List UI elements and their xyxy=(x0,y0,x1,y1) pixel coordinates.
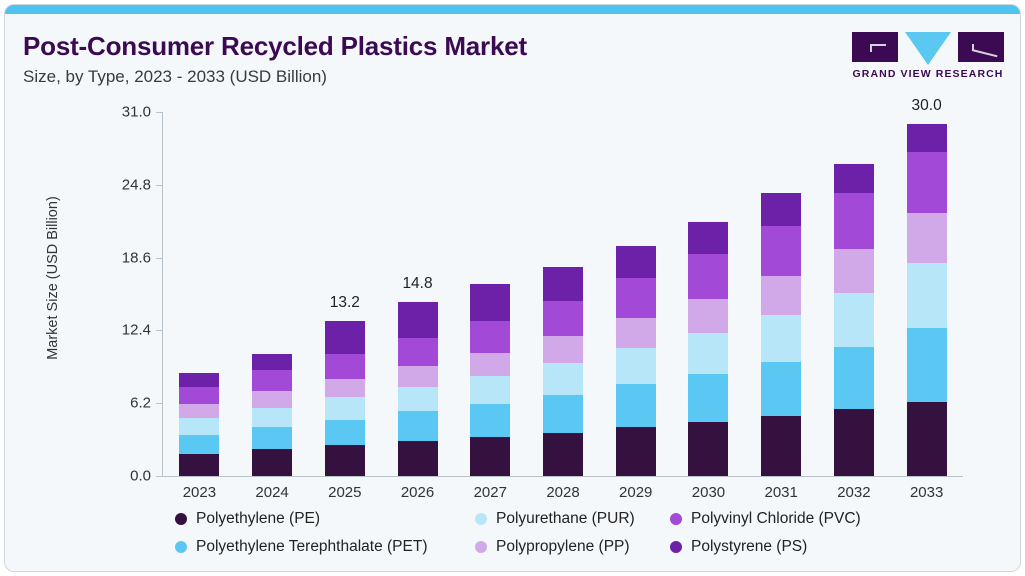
bar-segment[interactable] xyxy=(252,449,292,476)
bar-segment[interactable] xyxy=(325,445,365,476)
bar-segment[interactable] xyxy=(470,321,510,353)
bar-segment[interactable] xyxy=(543,433,583,476)
bar-segment[interactable] xyxy=(398,441,438,476)
bar-segment[interactable] xyxy=(398,411,438,440)
logo-block-right-icon xyxy=(958,32,1004,62)
bar-segment[interactable] xyxy=(179,373,219,387)
bar-segment[interactable] xyxy=(543,301,583,336)
bar-segment[interactable] xyxy=(616,246,656,278)
bar-segment[interactable] xyxy=(907,328,947,402)
chart-card: Post-Consumer Recycled Plastics Market S… xyxy=(4,4,1021,572)
bar-segment[interactable] xyxy=(543,336,583,363)
y-tick-mark xyxy=(156,330,163,331)
bar-2025[interactable] xyxy=(325,321,365,476)
y-tick-label: 6.2 xyxy=(130,395,151,412)
bar-segment[interactable] xyxy=(688,254,728,299)
bar-segment[interactable] xyxy=(470,404,510,437)
bar-segment[interactable] xyxy=(688,333,728,374)
bar-segment[interactable] xyxy=(325,354,365,379)
logo-right-tick-icon xyxy=(972,44,974,51)
bar-segment[interactable] xyxy=(398,302,438,337)
bar-segment[interactable] xyxy=(252,408,292,427)
logo-triangle-icon xyxy=(905,32,951,65)
bar-segment[interactable] xyxy=(688,222,728,254)
y-tick-label: 0.0 xyxy=(130,468,151,485)
legend-label: Polyvinyl Chloride (PVC) xyxy=(691,510,861,528)
x-tick-label-2027: 2027 xyxy=(450,484,530,501)
bar-value-label: 30.0 xyxy=(887,97,967,115)
bar-segment[interactable] xyxy=(470,437,510,476)
bar-segment[interactable] xyxy=(834,164,874,193)
bar-segment[interactable] xyxy=(543,267,583,301)
y-axis-title: Market Size (USD Billion) xyxy=(45,178,61,378)
x-tick-label-2023: 2023 xyxy=(159,484,239,501)
x-axis-line xyxy=(162,476,963,477)
y-tick-mark xyxy=(156,476,163,477)
bar-2031[interactable] xyxy=(761,193,801,476)
legend-swatch-icon xyxy=(475,513,487,525)
legend-row: Polyethylene Terephthalate (PET)Polyprop… xyxy=(175,538,1015,564)
bar-segment[interactable] xyxy=(688,422,728,476)
legend-label: Polyethylene Terephthalate (PET) xyxy=(196,538,428,556)
y-tick-label: 31.0 xyxy=(122,104,151,121)
bar-segment[interactable] xyxy=(325,397,365,419)
bar-segment[interactable] xyxy=(616,348,656,384)
bar-segment[interactable] xyxy=(179,404,219,418)
accent-top-bar xyxy=(5,5,1020,14)
bar-2028[interactable] xyxy=(543,267,583,476)
bar-segment[interactable] xyxy=(325,379,365,398)
bar-segment[interactable] xyxy=(179,435,219,454)
legend-item[interactable]: Polyethylene Terephthalate (PET) xyxy=(175,538,428,556)
bar-segment[interactable] xyxy=(834,293,874,347)
x-tick-label-2028: 2028 xyxy=(523,484,603,501)
bar-segment[interactable] xyxy=(761,226,801,276)
legend-label: Polystyrene (PS) xyxy=(691,538,807,556)
y-tick-mark xyxy=(156,403,163,404)
bar-segment[interactable] xyxy=(252,391,292,407)
plot-area: 0.06.212.418.624.831.0 13.214.830.0 2023… xyxy=(163,112,963,476)
x-tick-label-2025: 2025 xyxy=(305,484,385,501)
y-tick-mark xyxy=(156,185,163,186)
bar-segment[interactable] xyxy=(470,284,510,322)
bar-2032[interactable] xyxy=(834,164,874,476)
chart-header: Post-Consumer Recycled Plastics Market S… xyxy=(5,14,1020,98)
bar-segment[interactable] xyxy=(834,193,874,249)
bar-2024[interactable] xyxy=(252,354,292,476)
bar-segment[interactable] xyxy=(616,318,656,349)
legend-swatch-icon xyxy=(475,541,487,553)
bar-segment[interactable] xyxy=(907,402,947,476)
x-tick-label-2026: 2026 xyxy=(378,484,458,501)
bar-segment[interactable] xyxy=(907,263,947,328)
logo-block-left-icon xyxy=(852,32,898,62)
bar-segment[interactable] xyxy=(907,152,947,213)
bar-segment[interactable] xyxy=(179,454,219,476)
bar-segment[interactable] xyxy=(252,427,292,449)
x-tick-label-2032: 2032 xyxy=(814,484,894,501)
bar-segment[interactable] xyxy=(907,213,947,263)
legend-item[interactable]: Polyurethane (PUR) xyxy=(475,510,635,528)
bar-segment[interactable] xyxy=(761,362,801,416)
y-axis-line xyxy=(162,112,163,476)
bar-segment[interactable] xyxy=(834,347,874,409)
logo-left-tick-icon xyxy=(870,44,872,52)
legend-swatch-icon xyxy=(175,513,187,525)
bar-segment[interactable] xyxy=(252,354,292,370)
bar-segment[interactable] xyxy=(616,427,656,476)
bar-segment[interactable] xyxy=(761,276,801,315)
bar-segment[interactable] xyxy=(907,124,947,152)
y-tick-label: 12.4 xyxy=(122,322,151,339)
bar-segment[interactable] xyxy=(325,321,365,354)
bar-2023[interactable] xyxy=(179,373,219,476)
bar-segment[interactable] xyxy=(398,387,438,412)
x-tick-label-2024: 2024 xyxy=(232,484,312,501)
bar-segment[interactable] xyxy=(834,409,874,476)
legend-label: Polypropylene (PP) xyxy=(496,538,630,556)
y-tick-mark xyxy=(156,258,163,259)
x-tick-label-2033: 2033 xyxy=(887,484,967,501)
bar-2026[interactable] xyxy=(398,302,438,476)
bar-segment[interactable] xyxy=(252,370,292,391)
bar-2033[interactable] xyxy=(907,124,947,476)
y-tick-label: 24.8 xyxy=(122,176,151,193)
y-tick-mark xyxy=(156,112,163,113)
bar-value-label: 13.2 xyxy=(305,294,385,312)
bar-segment[interactable] xyxy=(616,384,656,426)
bar-segment[interactable] xyxy=(761,315,801,362)
legend-label: Polyurethane (PUR) xyxy=(496,510,635,528)
bar-2030[interactable] xyxy=(688,222,728,476)
legend-swatch-icon xyxy=(175,541,187,553)
bar-segment[interactable] xyxy=(179,387,219,405)
bar-2027[interactable] xyxy=(470,283,510,476)
legend-row: Polyethylene (PE)Polyurethane (PUR)Polyv… xyxy=(175,510,1015,536)
bar-2029[interactable] xyxy=(616,246,656,476)
bar-segment[interactable] xyxy=(834,249,874,292)
x-tick-label-2030: 2030 xyxy=(668,484,748,501)
legend-item[interactable]: Polyethylene (PE) xyxy=(175,510,320,528)
grand-view-research-logo: GRAND VIEW RESEARCH xyxy=(852,32,1004,86)
legend-swatch-icon xyxy=(670,541,682,553)
stacked-bar-chart: Market Size (USD Billion) 0.06.212.418.6… xyxy=(5,98,1021,498)
legend-item[interactable]: Polystyrene (PS) xyxy=(670,538,807,556)
x-tick-label-2031: 2031 xyxy=(741,484,821,501)
legend-label: Polyethylene (PE) xyxy=(196,510,320,528)
bar-segment[interactable] xyxy=(761,193,801,226)
x-tick-label-2029: 2029 xyxy=(596,484,676,501)
bar-value-label: 14.8 xyxy=(378,275,458,293)
chart-legend: Polyethylene (PE)Polyurethane (PUR)Polyv… xyxy=(175,510,1015,566)
page-title: Post-Consumer Recycled Plastics Market xyxy=(23,31,527,62)
bar-segment[interactable] xyxy=(761,416,801,476)
legend-item[interactable]: Polyvinyl Chloride (PVC) xyxy=(670,510,861,528)
y-tick-label: 18.6 xyxy=(122,249,151,266)
legend-item[interactable]: Polypropylene (PP) xyxy=(475,538,630,556)
bar-segment[interactable] xyxy=(398,338,438,366)
bar-segment[interactable] xyxy=(688,374,728,422)
bar-segment[interactable] xyxy=(470,376,510,404)
logo-marks xyxy=(852,32,1004,66)
logo-left-slash-icon xyxy=(870,44,886,46)
bar-segment[interactable] xyxy=(325,420,365,446)
bar-segment[interactable] xyxy=(616,278,656,318)
legend-swatch-icon xyxy=(670,513,682,525)
bar-segment[interactable] xyxy=(179,418,219,434)
bar-segment[interactable] xyxy=(543,363,583,395)
bar-segment[interactable] xyxy=(470,353,510,376)
bar-segment[interactable] xyxy=(688,299,728,333)
page-subtitle: Size, by Type, 2023 - 2033 (USD Billion) xyxy=(23,67,327,87)
bar-segment[interactable] xyxy=(543,395,583,433)
logo-wordmark: GRAND VIEW RESEARCH xyxy=(852,68,1004,80)
bar-segment[interactable] xyxy=(398,366,438,387)
